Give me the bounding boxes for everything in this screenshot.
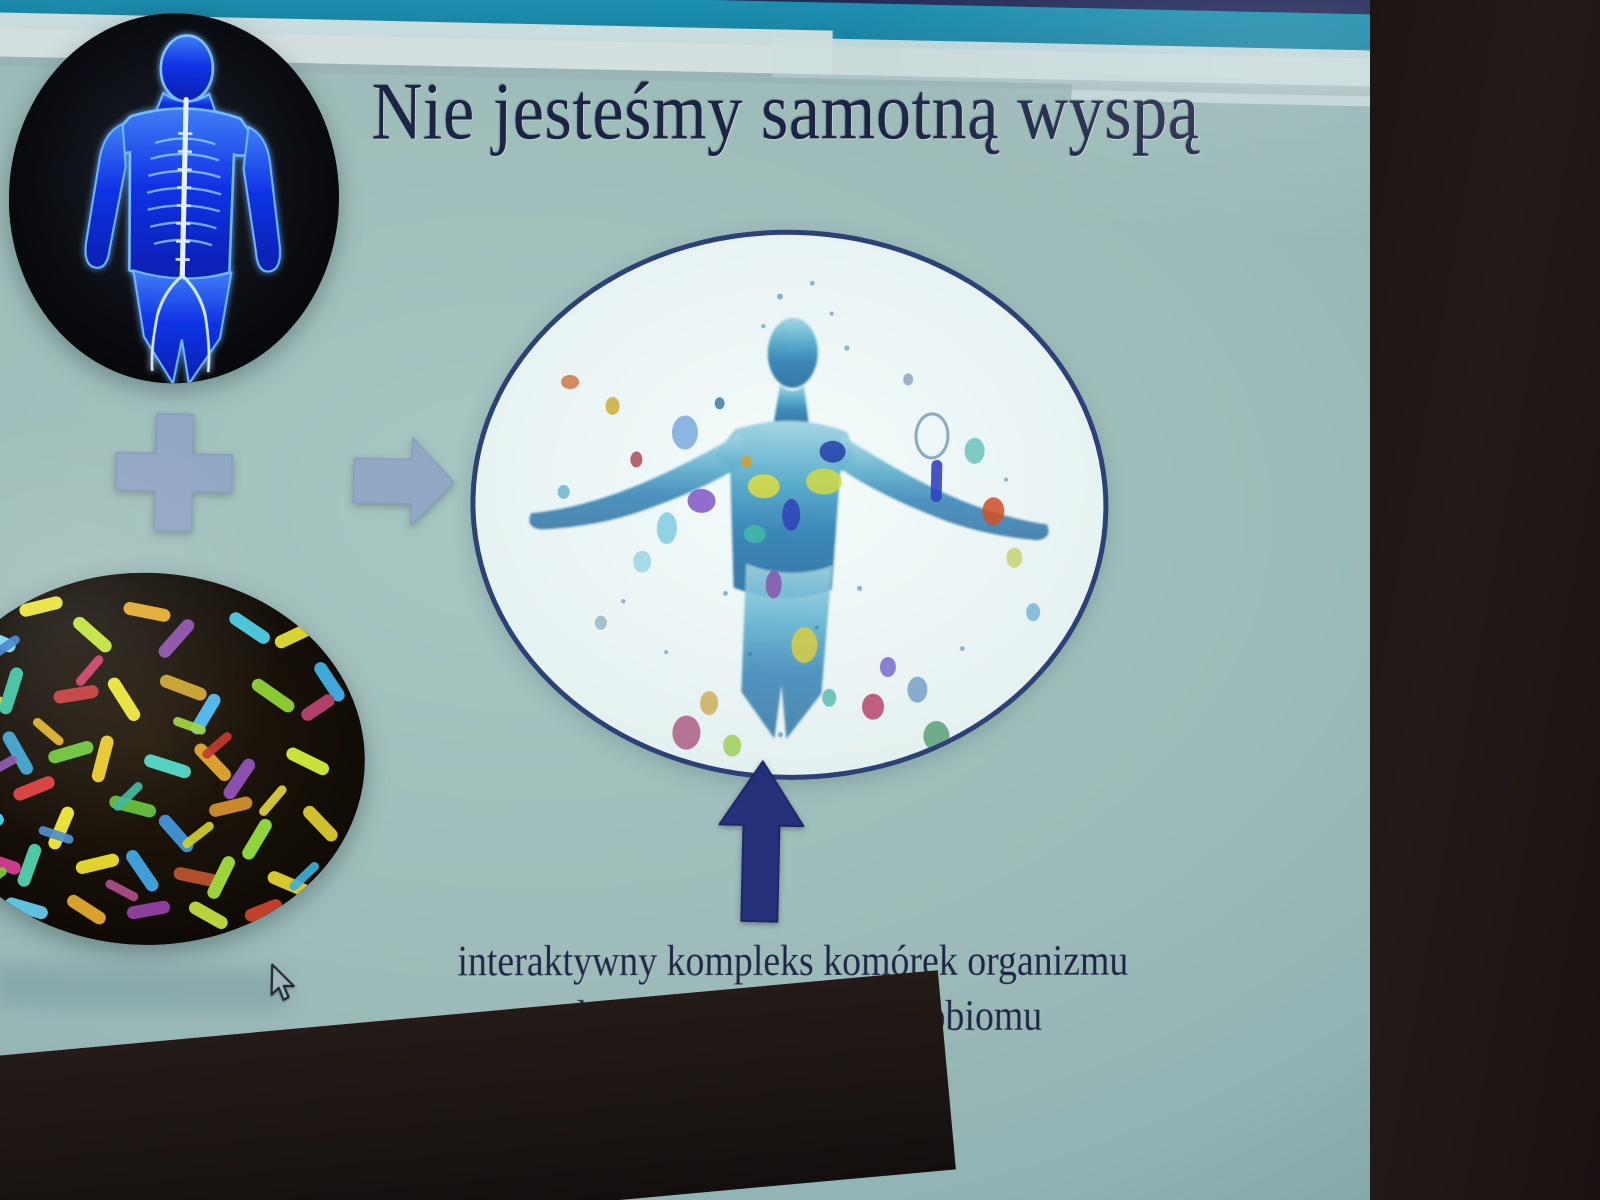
microbes-image xyxy=(0,568,369,949)
arrow-right-icon xyxy=(347,432,459,530)
bacteria-illustration xyxy=(0,568,369,949)
mouse-pointer-shape xyxy=(267,963,302,1006)
mouse-pointer-icon[interactable] xyxy=(267,963,302,1006)
wall-right xyxy=(1370,0,1600,1200)
arrow-up-icon xyxy=(713,756,809,926)
composite-human-microbiome-image xyxy=(465,223,1115,787)
watercolor-human-illustration xyxy=(470,228,1110,782)
caption-line-1: interaktywny kompleks komórek organizmu xyxy=(414,934,1171,990)
xray-illustration xyxy=(5,10,343,387)
plus-icon xyxy=(107,405,242,540)
slide-title: Nie jesteśmy samotną wyspą xyxy=(371,70,1257,152)
screenshot-root: Nie jesteśmy samotną wyspą xyxy=(0,0,1600,1200)
screen-smudge xyxy=(0,965,292,1012)
arrow-right-icon-shape xyxy=(347,432,459,530)
plus-icon-shape xyxy=(107,405,242,540)
xray-body-image xyxy=(5,10,343,387)
arrow-up-icon-shape xyxy=(713,756,809,926)
